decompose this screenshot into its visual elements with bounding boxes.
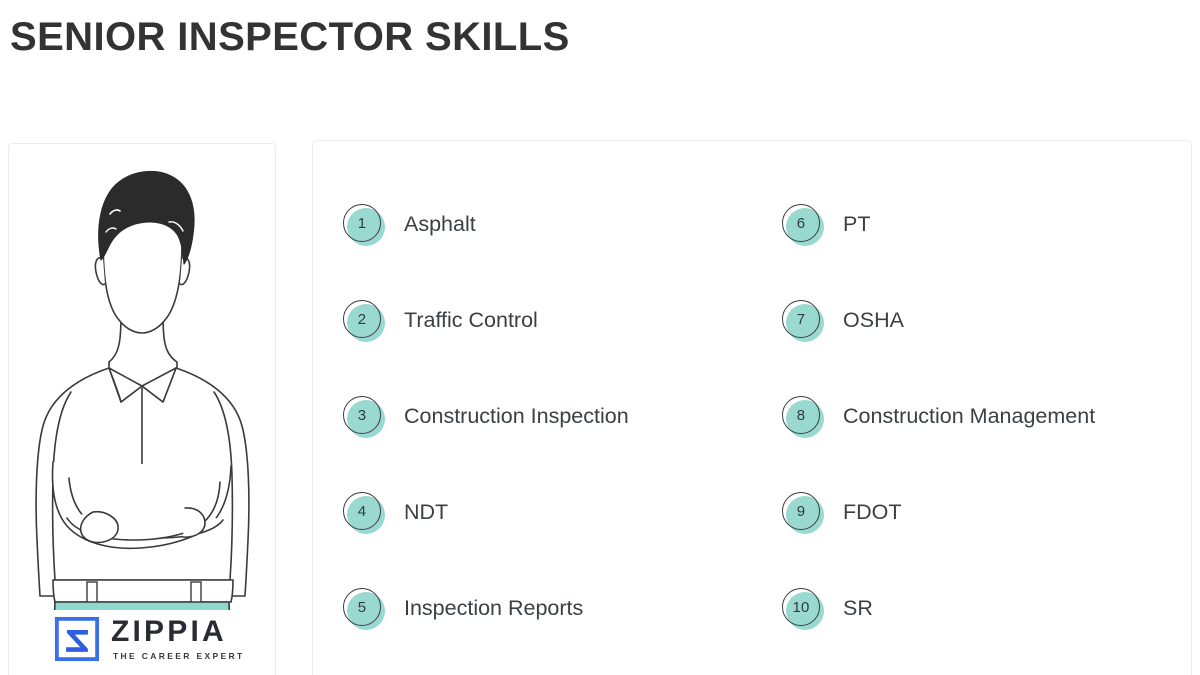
- rank-badge: 3: [343, 396, 385, 438]
- rank-number: 9: [782, 492, 820, 530]
- rank-badge: 9: [782, 492, 824, 534]
- skill-item[interactable]: 6 PT: [782, 177, 1191, 273]
- skill-item[interactable]: 8 Construction Management: [782, 369, 1191, 465]
- skill-item[interactable]: 3 Construction Inspection: [343, 369, 752, 465]
- rank-number: 4: [343, 492, 381, 530]
- rank-badge: 2: [343, 300, 385, 342]
- rank-number: 8: [782, 396, 820, 434]
- skill-item[interactable]: 2 Traffic Control: [343, 273, 752, 369]
- skill-label: Asphalt: [404, 212, 476, 238]
- person-illustration: [9, 143, 276, 610]
- rank-badge: 5: [343, 588, 385, 630]
- rank-number: 7: [782, 300, 820, 338]
- illustration-panel: ZIPPIA THE CAREER EXPERT: [8, 143, 276, 675]
- skill-label: Inspection Reports: [404, 596, 583, 622]
- rank-number: 6: [782, 204, 820, 242]
- skill-item[interactable]: 9 FDOT: [782, 465, 1191, 561]
- skills-column-right: 6 PT 7 OSHA 8: [752, 141, 1191, 675]
- skills-infographic-page: SENIOR INSPECTOR SKILLS: [0, 0, 1200, 675]
- zippia-logo: ZIPPIA THE CAREER EXPERT: [54, 616, 245, 662]
- skill-label: OSHA: [843, 308, 904, 334]
- skill-label: Construction Management: [843, 404, 1095, 430]
- skills-grid: 1 Asphalt 2 Traffic Control: [313, 141, 1191, 675]
- rank-number: 3: [343, 396, 381, 434]
- skill-item[interactable]: 5 Inspection Reports: [343, 561, 752, 657]
- rank-number: 1: [343, 204, 381, 242]
- rank-number: 10: [782, 588, 820, 626]
- rank-badge: 10: [782, 588, 824, 630]
- skill-item[interactable]: 10 SR: [782, 561, 1191, 657]
- rank-badge: 1: [343, 204, 385, 246]
- skill-label: SR: [843, 596, 873, 622]
- skill-item[interactable]: 1 Asphalt: [343, 177, 752, 273]
- skill-item[interactable]: 4 NDT: [343, 465, 752, 561]
- zippia-tagline: THE CAREER EXPERT: [113, 652, 245, 661]
- skills-column-left: 1 Asphalt 2 Traffic Control: [313, 141, 752, 675]
- zippia-wordmark: ZIPPIA: [111, 617, 245, 647]
- skill-label: Construction Inspection: [404, 404, 629, 430]
- rank-badge: 4: [343, 492, 385, 534]
- rank-badge: 6: [782, 204, 824, 246]
- skill-item[interactable]: 7 OSHA: [782, 273, 1191, 369]
- skill-label: FDOT: [843, 500, 902, 526]
- skill-label: NDT: [404, 500, 448, 526]
- rank-number: 5: [343, 588, 381, 626]
- rank-number: 2: [343, 300, 381, 338]
- zippia-z-mark-icon: [54, 616, 100, 662]
- rank-badge: 8: [782, 396, 824, 438]
- page-title: SENIOR INSPECTOR SKILLS: [10, 14, 570, 60]
- rank-badge: 7: [782, 300, 824, 342]
- skill-label: PT: [843, 212, 870, 238]
- skills-panel: 1 Asphalt 2 Traffic Control: [312, 140, 1192, 675]
- skill-label: Traffic Control: [404, 308, 538, 334]
